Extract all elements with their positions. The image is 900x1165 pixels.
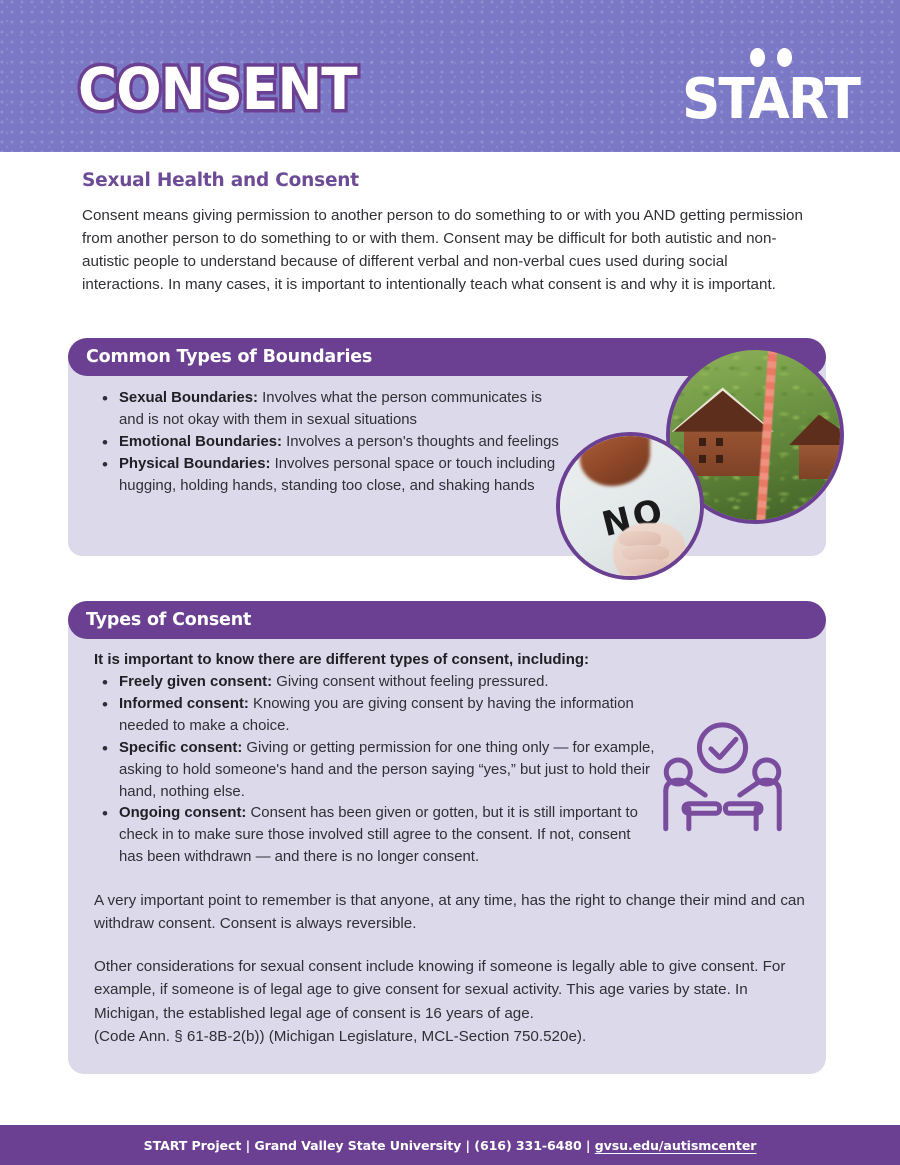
consent-card-header: Types of Consent — [68, 601, 826, 639]
house-window — [716, 455, 723, 463]
photo-no-sign: NO — [556, 432, 704, 580]
consent-citation: (Code Ann. § 61-8B-2(b)) (Michigan Legis… — [94, 1028, 586, 1045]
boundaries-term: Sexual Boundaries: — [119, 390, 258, 406]
footer-label: START Project | Grand Valley State Unive… — [144, 1138, 595, 1153]
list-item: Informed consent: Knowing you are giving… — [90, 694, 655, 738]
intro-section: Sexual Health and Consent Consent means … — [82, 170, 807, 296]
page-title: CONSENT — [78, 60, 357, 118]
consent-paragraph-2: Other considerations for sexual consent … — [94, 955, 809, 1047]
intro-heading: Sexual Health and Consent — [82, 170, 807, 191]
list-item: Freely given consent: Giving consent wit… — [90, 672, 655, 694]
header-banner: CONSENT START — [0, 0, 900, 152]
list-item: Specific consent: Giving or getting perm… — [90, 738, 655, 804]
footer-website-link[interactable]: gvsu.edu/autismcenter — [595, 1138, 757, 1153]
page-root: CONSENT START Sexual Health and Consent … — [0, 0, 900, 1165]
logo-wordmark: START — [682, 72, 859, 128]
list-item: Emotional Boundaries: Involves a person'… — [90, 432, 560, 454]
consent-term: Informed consent: — [119, 696, 249, 712]
consent-term: Ongoing consent: — [119, 805, 246, 821]
consent-types-list: Freely given consent: Giving consent wit… — [90, 672, 655, 869]
handshake-consent-icon — [655, 721, 790, 846]
consent-desc: Giving consent without feeling pressured… — [272, 674, 548, 690]
intro-paragraph: Consent means giving permission to anoth… — [82, 204, 807, 296]
list-item: Sexual Boundaries: Involves what the per… — [90, 388, 560, 432]
boundaries-list: Sexual Boundaries: Involves what the per… — [90, 388, 560, 498]
boundaries-desc: Involves a person's thoughts and feeling… — [282, 434, 559, 450]
footer-bar: START Project | Grand Valley State Unive… — [0, 1125, 900, 1165]
consent-card: Types of Consent It is important to know… — [68, 601, 826, 1074]
logo-dot-left-icon — [750, 48, 765, 67]
consent-term: Specific consent: — [119, 740, 242, 756]
consent-term: Freely given consent: — [119, 674, 272, 690]
start-logo: START — [682, 46, 852, 128]
list-item: Ongoing consent: Consent has been given … — [90, 803, 655, 869]
house-window — [716, 438, 723, 446]
boundaries-card-title: Common Types of Boundaries — [86, 347, 372, 367]
consent-paragraph-1: A very important point to remember is th… — [94, 889, 809, 935]
boundaries-term: Emotional Boundaries: — [119, 434, 282, 450]
list-item: Physical Boundaries: Involves personal s… — [90, 454, 560, 498]
footer-text: START Project | Grand Valley State Unive… — [144, 1138, 757, 1153]
logo-dot-right-icon — [777, 48, 792, 67]
boundaries-term: Physical Boundaries: — [119, 456, 270, 472]
consent-card-title: Types of Consent — [86, 610, 251, 630]
consent-paragraph-2-main: Other considerations for sexual consent … — [94, 958, 785, 1021]
person-finger — [624, 559, 669, 574]
consent-card-body: It is important to know there are differ… — [68, 619, 826, 1074]
consent-lead-text: It is important to know there are differ… — [94, 651, 804, 668]
